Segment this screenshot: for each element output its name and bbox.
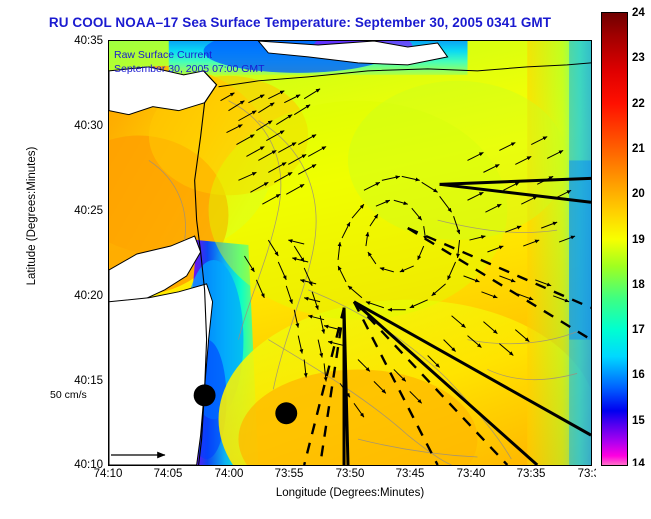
cbtick-16: 16 <box>632 369 645 381</box>
cbtick-19: 19 <box>632 234 645 246</box>
cbtick-21: 21 <box>632 143 645 155</box>
velocity-scale-arrow <box>108 41 259 466</box>
colorbar-clip-mask <box>596 466 651 496</box>
xtick-5: 73:45 <box>396 468 425 480</box>
xtick-4: 73:50 <box>336 468 365 480</box>
x-axis-label: Longitude (Degrees:Minutes) <box>108 487 592 499</box>
xtick-3: 73:55 <box>275 468 304 480</box>
cbtick-18: 18 <box>632 279 645 291</box>
y-axis-label: Latitude (Degrees:Minutes) <box>26 86 38 346</box>
cbtick-24: 24 <box>632 7 645 19</box>
ytick-2: 40:25 <box>74 205 103 217</box>
xtick-2: 74:00 <box>215 468 244 480</box>
xtick-7: 73:35 <box>517 468 546 480</box>
ytick-0: 40:35 <box>74 35 103 47</box>
ytick-4: 40:15 <box>74 375 103 387</box>
xtick-6: 73:40 <box>457 468 486 480</box>
colorbar <box>601 12 628 466</box>
colorbar-gradient <box>602 13 627 465</box>
figure-canvas: RU COOL NOAA–17 Sea Surface Temperature:… <box>0 0 651 519</box>
cbtick-22: 22 <box>632 98 645 110</box>
station-marker-2 <box>275 402 297 424</box>
cbtick-17: 17 <box>632 324 645 336</box>
figure-title: RU COOL NOAA–17 Sea Surface Temperature:… <box>0 15 600 30</box>
ytick-5: 40:10 <box>74 459 103 471</box>
cbtick-20: 20 <box>632 188 645 200</box>
ytick-1: 40:30 <box>74 120 103 132</box>
xtick-1: 74:05 <box>154 468 183 480</box>
cbtick-15: 15 <box>632 415 645 427</box>
ytick-3: 40:20 <box>74 290 103 302</box>
map-plot-area[interactable]: Raw Surface Current September 30, 2005 0… <box>108 40 592 466</box>
cbtick-23: 23 <box>632 52 645 64</box>
velocity-scale-label: 50 cm/s <box>50 389 87 401</box>
